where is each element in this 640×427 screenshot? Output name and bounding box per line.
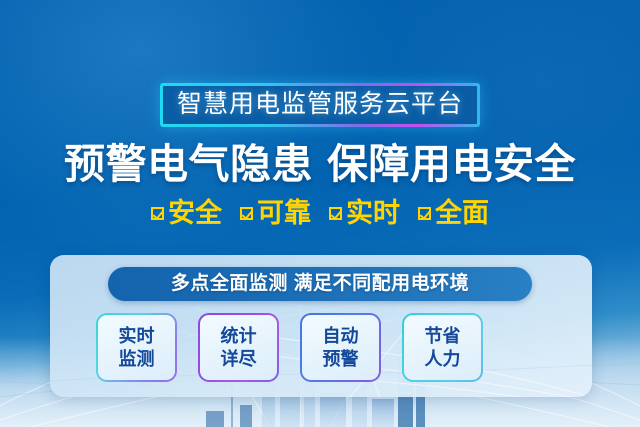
checkbox-checked-icon <box>240 207 253 220</box>
highlight-panel: 多点全面监测 满足不同配用电环境 实时 监测 统计 详尽 自动 预警 <box>50 255 592 397</box>
page-title: 预警电气隐患保障用电安全 <box>0 139 640 189</box>
feature-card-line-2: 预警 <box>323 348 359 371</box>
feature-card-line-1: 实时 <box>119 325 155 348</box>
feature-check-item-3: 全面 <box>418 198 489 228</box>
feature-card-line-2: 详尽 <box>221 348 257 371</box>
feature-card-line-1: 统计 <box>221 325 257 348</box>
feature-card-line-1: 自动 <box>323 325 359 348</box>
feature-check-item-2: 实时 <box>329 198 400 228</box>
checkbox-checked-icon <box>418 207 431 220</box>
banner-frame: 智慧用电监管服务云平台 <box>160 83 480 127</box>
feature-check-label: 可靠 <box>257 198 311 228</box>
checkbox-checked-icon <box>151 207 164 220</box>
feature-check-list: 安全 可靠 实时 全面 <box>0 198 640 228</box>
promo-poster: 智慧用电监管服务云平台 预警电气隐患保障用电安全 安全 可靠 实时 全面 <box>0 0 640 427</box>
feature-card-line-1: 节省 <box>425 325 461 348</box>
headline-part-1: 预警电气隐患 <box>64 141 313 187</box>
headline-part-2: 保障用电安全 <box>327 141 576 187</box>
feature-card-inner: 实时 监测 <box>98 315 175 380</box>
feature-card-inner: 统计 详尽 <box>200 315 277 380</box>
feature-check-label: 实时 <box>346 198 400 228</box>
feature-check-label: 全面 <box>435 198 489 228</box>
feature-card-line-2: 监测 <box>119 348 155 371</box>
panel-headline-text: 多点全面监测 满足不同配用电环境 <box>171 273 469 295</box>
feature-check-item-1: 可靠 <box>240 198 311 228</box>
banner-inner: 智慧用电监管服务云平台 <box>163 86 477 124</box>
feature-check-label: 安全 <box>168 198 222 228</box>
feature-card-realtime-monitoring[interactable]: 实时 监测 <box>96 313 177 382</box>
feature-card-save-manpower[interactable]: 节省 人力 <box>402 313 483 382</box>
feature-card-automatic-alert[interactable]: 自动 预警 <box>300 313 381 382</box>
feature-card-line-2: 人力 <box>425 348 461 371</box>
feature-card-inner: 节省 人力 <box>404 315 481 380</box>
feature-check-item-0: 安全 <box>151 198 222 228</box>
panel-headline-pill: 多点全面监测 满足不同配用电环境 <box>108 267 532 301</box>
platform-title: 智慧用电监管服务云平台 <box>177 89 463 119</box>
checkbox-checked-icon <box>329 207 342 220</box>
feature-card-inner: 自动 预警 <box>302 315 379 380</box>
feature-card-detailed-statistics[interactable]: 统计 详尽 <box>198 313 279 382</box>
feature-card-row: 实时 监测 统计 详尽 自动 预警 节省 人力 <box>96 313 546 382</box>
